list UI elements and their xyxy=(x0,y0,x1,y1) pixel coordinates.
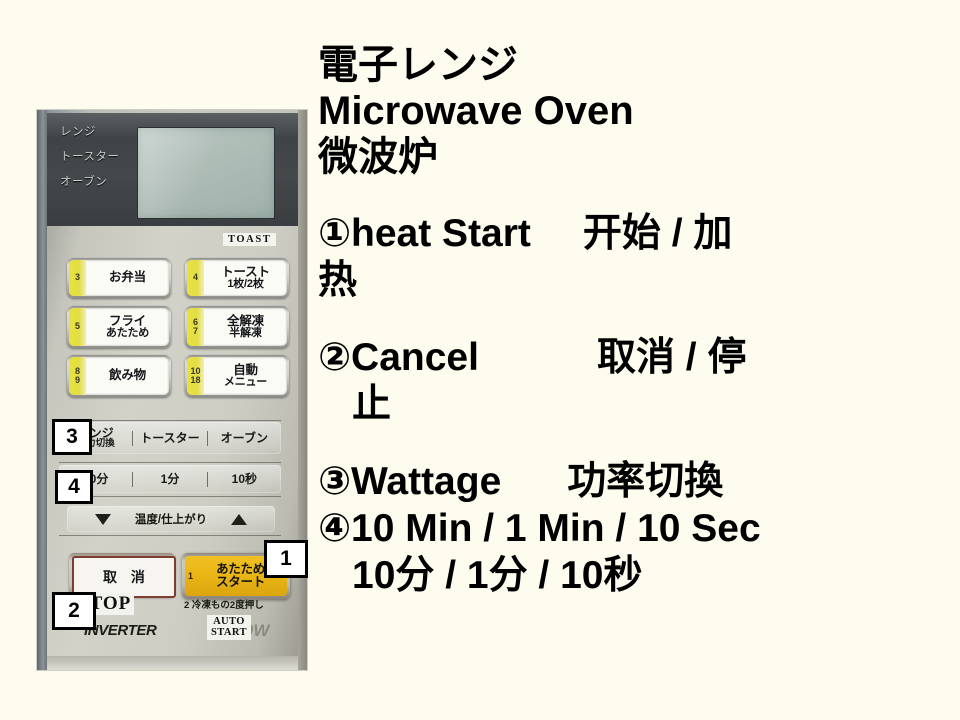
time-row-divider xyxy=(132,472,133,487)
callout-4: 4 xyxy=(55,470,93,504)
preset-button-number: 8 9 xyxy=(69,357,86,395)
preset-button-label: 全解凍 半解凍 xyxy=(204,308,287,346)
callout-3: 3 xyxy=(52,419,92,455)
divider-above-time-row xyxy=(59,462,281,463)
spacer xyxy=(318,180,948,210)
triangle-down-icon[interactable] xyxy=(95,514,111,525)
triangle-up-icon[interactable] xyxy=(231,514,247,525)
lcd-screen xyxy=(137,127,275,219)
preset-button-number: 10 18 xyxy=(187,357,204,395)
instruction-item-4: ④10 Min / 1 Min / 10 Sec 10分 / 1分 / 10秒 xyxy=(318,505,948,599)
instruction-chinese-wrap: 止 xyxy=(318,381,948,428)
start-button-number: 1 xyxy=(188,571,193,581)
instruction-item-3: ③Wattage功率切換 xyxy=(318,458,948,505)
display-mode-labels: レンジ トースター オーブン xyxy=(60,120,132,195)
instruction-item-2: ②Cancel取消 / 停 止 xyxy=(318,334,948,428)
instruction-marker: ④ xyxy=(318,507,351,550)
display-mode-label-toaster: トースター xyxy=(60,145,132,170)
callout-2: 2 xyxy=(52,592,96,630)
frozen-food-note: 2 冷凍もの2度押し xyxy=(184,597,264,611)
heading-japanese: 電子レンジ xyxy=(318,42,948,88)
instruction-marker: ① xyxy=(318,212,351,255)
instruction-english: heat Start xyxy=(351,210,531,257)
preset-button-label: フライ あたため xyxy=(86,308,169,346)
panel-left-bezel xyxy=(37,110,47,670)
preset-button-label: 自動 メニュー xyxy=(204,357,287,395)
instruction-chinese-wrap: 10分 / 1分 / 10秒 xyxy=(318,552,948,599)
instruction-marker: ③ xyxy=(318,460,351,503)
preset-button-label: お弁当 xyxy=(86,260,169,296)
panel-right-bezel xyxy=(298,110,307,670)
instruction-marker: ② xyxy=(318,336,351,379)
instruction-chinese: 开始 / 加 xyxy=(583,212,733,255)
preset-button-number: 5 xyxy=(69,308,86,346)
instruction-chinese: 取消 / 停 xyxy=(597,336,747,379)
cancel-button[interactable]: 取 消 xyxy=(69,553,175,597)
preset-button-label: 飲み物 xyxy=(86,357,169,395)
instruction-english: 10 Min / 1 Min / 10 Sec xyxy=(351,505,761,552)
instruction-item-1: ①heat Start开始 / 加 热 xyxy=(318,210,948,304)
mode-row-divider xyxy=(132,431,133,446)
mode-row-item-oven[interactable]: オーブン xyxy=(208,432,281,445)
mode-row-item-toaster[interactable]: トースター xyxy=(133,432,206,445)
mode-row[interactable]: レンジ 出力切換 トースター オーブン xyxy=(59,422,281,454)
preset-button-defrost[interactable]: 6 7 全解凍 半解凍 xyxy=(185,306,289,348)
time-row-divider xyxy=(207,472,208,487)
preset-button-obento[interactable]: 3 お弁当 xyxy=(67,258,171,298)
auto-start-sticker: AUTO START xyxy=(207,615,251,640)
microwave-control-panel-photo: レンジ トースター オーブン TOAST 3 お弁当 4 トースト xyxy=(37,110,307,670)
divider-below-temperature-row xyxy=(59,535,281,536)
preset-button-number: 3 xyxy=(69,260,86,296)
preset-button-fry-warm[interactable]: 5 フライ あたため xyxy=(67,306,171,348)
instruction-chinese-wrap: 热 xyxy=(318,257,948,304)
heading-english: Microwave Oven xyxy=(318,88,948,134)
instruction-chinese: 功率切換 xyxy=(567,460,723,503)
time-button-10-sec[interactable]: 10秒 xyxy=(208,473,281,486)
spacer xyxy=(318,428,948,458)
display-mode-label-range: レンジ xyxy=(60,120,132,145)
preset-button-toast[interactable]: 4 トースト 1枚/2枚 xyxy=(185,258,289,298)
time-button-1-min[interactable]: 1分 xyxy=(133,473,206,486)
display-mode-label-oven: オーブン xyxy=(60,170,132,195)
preset-button-label: トースト 1枚/2枚 xyxy=(204,260,287,296)
mode-row-divider xyxy=(207,431,208,446)
lcd-glare xyxy=(138,128,220,218)
divider-above-mode-row xyxy=(59,420,281,421)
spacer xyxy=(318,304,948,334)
text-column: 電子レンジ Microwave Oven 微波炉 ①heat Start开始 /… xyxy=(318,42,948,599)
toast-sticker: TOAST xyxy=(223,233,276,246)
preset-button-number: 4 xyxy=(187,260,204,296)
preset-button-number: 6 7 xyxy=(187,308,204,346)
panel-bottom-edge xyxy=(47,656,298,670)
preset-button-auto-menu[interactable]: 10 18 自動 メニュー xyxy=(185,355,289,397)
preset-button-drinks[interactable]: 8 9 飲み物 xyxy=(67,355,171,397)
heading-chinese: 微波炉 xyxy=(318,134,948,180)
display-header: レンジ トースター オーブン xyxy=(47,113,298,226)
instruction-english: Wattage xyxy=(351,458,501,505)
temperature-row-label: 温度/仕上がり xyxy=(135,511,207,527)
temperature-row[interactable]: 温度/仕上がり xyxy=(67,506,275,532)
instruction-english: Cancel xyxy=(351,334,479,381)
callout-1: 1 xyxy=(264,540,308,578)
